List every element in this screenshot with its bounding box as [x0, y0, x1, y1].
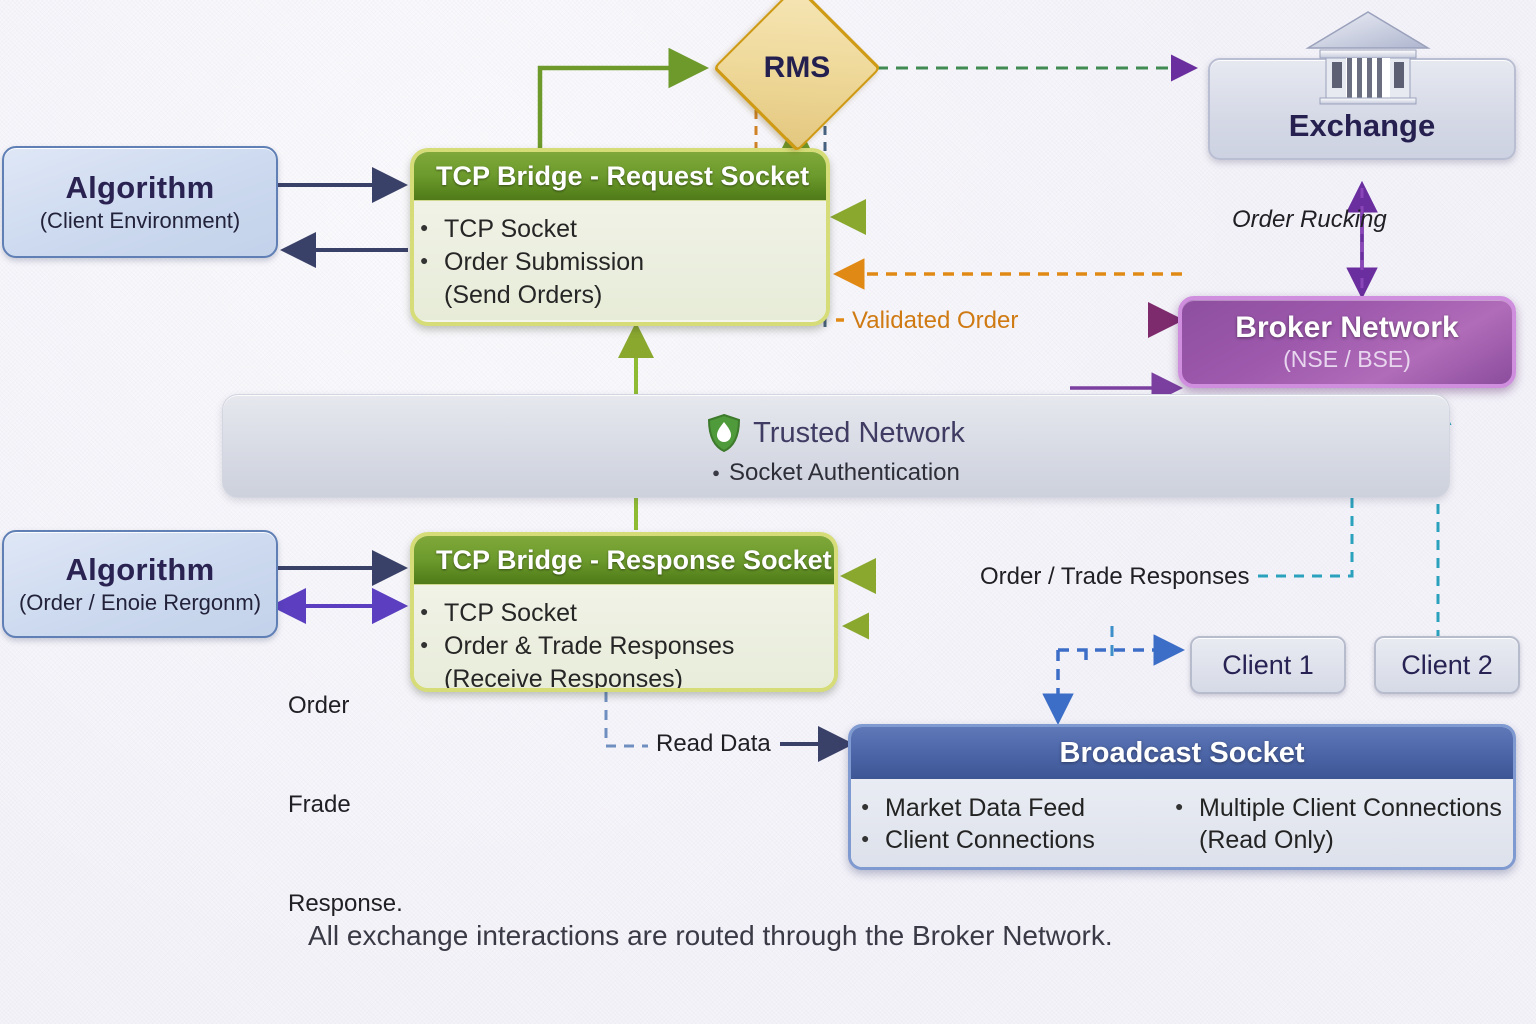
order-routing-label: Order Rucking [1232, 206, 1387, 234]
list-item: TCP Socket [444, 215, 810, 244]
broadcast-right-col: Multiple Client Connections (Read Only) [1199, 791, 1503, 858]
broadcast-socket-body: Market Data Feed Client Connections Mult… [851, 779, 1513, 868]
trusted-network-sub-row: Socket Authentication [223, 459, 1449, 487]
validated-order-label: Validated Order [852, 307, 1018, 335]
tcp-response-bullets: TCP Socket Order & Trade Responses [444, 599, 818, 661]
trusted-network-title: Trusted Network [753, 417, 965, 450]
algorithm-response-box[interactable]: Algorithm (Order / Enoie Rergonm) [2, 530, 278, 638]
client-2-label: Client 2 [1401, 650, 1493, 681]
rms-label: RMS [764, 51, 831, 85]
algorithm-response-title: Algorithm [65, 552, 214, 588]
broker-network-box[interactable]: Broker Network (NSE / BSE) [1178, 296, 1516, 388]
trusted-network-title-row: Trusted Network [223, 413, 1449, 453]
algorithm-client-box[interactable]: Algorithm (Client Environment) [2, 146, 278, 258]
order-frade-response-line-1: Order [288, 689, 403, 722]
tcp-bridge-request-socket-box[interactable]: TCP Bridge - Request Socket TCP Socket O… [410, 148, 830, 326]
tcp-request-header: TCP Bridge - Request Socket [414, 152, 826, 201]
tcp-request-sub: (Send Orders) [444, 281, 810, 310]
broker-network-title: Broker Network [1235, 311, 1458, 345]
tcp-response-body: TCP Socket Order & Trade Responses (Rece… [414, 585, 834, 692]
algorithm-client-title: Algorithm [65, 170, 214, 206]
tcp-response-sub: (Receive Responses) [444, 665, 818, 692]
exchange-label: Exchange [1289, 108, 1435, 144]
tcp-response-header: TCP Bridge - Response Socket [414, 536, 834, 585]
algorithm-response-subtitle: (Order / Enoie Rergonm) [19, 590, 261, 616]
list-item: Multiple Client Connections [1199, 794, 1503, 823]
list-item: Order Submission [444, 248, 810, 277]
tcp-request-bullets: TCP Socket Order Submission [444, 215, 810, 277]
list-item: Order & Trade Responses [444, 632, 818, 661]
rms-node[interactable]: RMS [712, 13, 882, 123]
read-data-label: Read Data [656, 730, 771, 758]
broadcast-socket-box[interactable]: Broadcast Socket Market Data Feed Client… [848, 724, 1516, 870]
broker-network-subtitle: (NSE / BSE) [1283, 346, 1411, 373]
diagram-caption: All exchange interactions are routed thr… [308, 920, 1113, 952]
list-item: TCP Socket [444, 599, 818, 628]
list-item: Client Connections [885, 826, 1189, 855]
client-1-label: Client 1 [1222, 650, 1314, 681]
broadcast-socket-header: Broadcast Socket [851, 727, 1513, 779]
tcp-request-body: TCP Socket Order Submission (Send Orders… [414, 201, 826, 320]
order-frade-response-line-3: Response. [288, 887, 403, 920]
client-1-box[interactable]: Client 1 [1190, 636, 1346, 694]
order-trade-responses-label: Order / Trade Responses [980, 563, 1249, 591]
order-frade-response-line-2: Frade [288, 788, 403, 821]
trusted-network-band[interactable]: Trusted Network Socket Authentication [222, 394, 1450, 498]
trusted-network-bullet: Socket Authentication [712, 459, 960, 487]
list-item: Market Data Feed [885, 794, 1189, 823]
order-frade-response-label: Order Frade Response. [288, 623, 403, 953]
broadcast-right-sub: (Read Only) [1199, 826, 1503, 855]
bank-icon [1300, 6, 1436, 112]
algorithm-client-subtitle: (Client Environment) [40, 208, 241, 234]
tcp-bridge-response-socket-box[interactable]: TCP Bridge - Response Socket TCP Socket … [410, 532, 838, 692]
shield-icon [707, 413, 741, 453]
broadcast-left-col: Market Data Feed Client Connections [885, 791, 1189, 858]
client-2-box[interactable]: Client 2 [1374, 636, 1520, 694]
